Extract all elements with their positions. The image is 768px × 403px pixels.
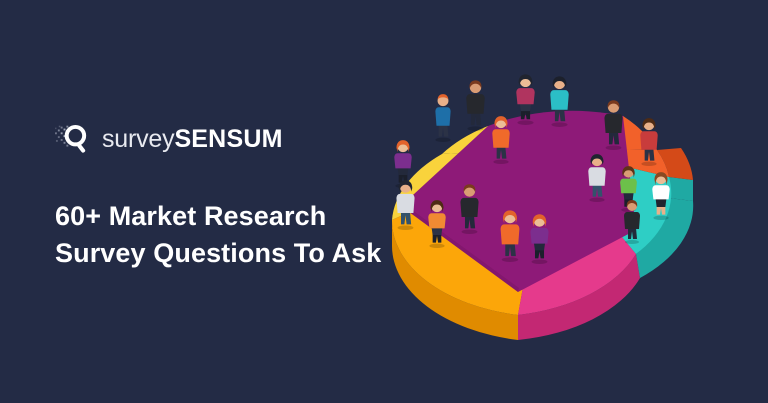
banner: surveySENSUM 60+ Market Research Survey …	[0, 0, 768, 403]
brand-name-light: survey	[102, 125, 174, 153]
magnifying-glass-pixel-icon	[55, 120, 93, 158]
pie-chart-illustration	[368, 30, 728, 360]
brand-logo-text: surveySENSUM	[102, 127, 283, 152]
page-title-line-1: 60+ Market Research	[55, 198, 385, 235]
brand-name-bold: SENSUM	[174, 125, 282, 153]
text-column: surveySENSUM 60+ Market Research Survey …	[55, 118, 395, 273]
page-title-line-2: Survey Questions To Ask	[55, 235, 385, 272]
page-title: 60+ Market Research Survey Questions To …	[55, 198, 385, 273]
person-figure	[435, 94, 450, 142]
person-figure	[466, 80, 484, 131]
brand-logo[interactable]: surveySENSUM	[55, 118, 395, 160]
